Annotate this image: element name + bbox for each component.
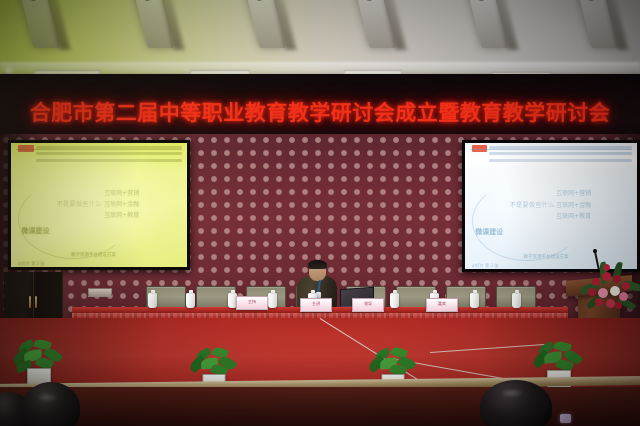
water-bottle — [512, 293, 521, 308]
podium-flower-arrangement — [578, 258, 640, 318]
potted-plant — [10, 340, 68, 388]
hair-highlight — [36, 392, 58, 403]
slide-content-left: 不是要做些什么 互联网+营销 互联网+金融 互联网+教育 微课建设 教学资源平台… — [11, 143, 187, 267]
name-card-label: 主讲 — [301, 301, 331, 307]
slide-lower-text: 微课建设 — [475, 227, 503, 237]
slide-lower-text: 微课建设 — [22, 226, 50, 236]
slide-bullet-3: 互联网+教育 — [104, 210, 139, 219]
audience-head — [22, 382, 80, 426]
name-card-label: 主持 — [237, 299, 267, 305]
slide-ribbon — [11, 143, 187, 170]
name-card-label: 嘉宾 — [427, 301, 457, 307]
audience-head — [480, 380, 552, 426]
speaker-hair — [308, 260, 327, 269]
event-banner-title: 合肥市第二届中等职业教育教学研讨会成立暨教育教学研讨会 — [0, 94, 640, 130]
ceiling — [0, 0, 640, 78]
projection-screen-right: 不是要做些什么 互联网+营销 互联网+金融 互联网+教育 微课建设 教学资源平台… — [462, 140, 640, 272]
projection-screen-left: 不是要做些什么 互联网+营销 互联网+金融 互联网+教育 微课建设 教学资源平台… — [8, 140, 190, 270]
conference-hall-photo: 合肥市第二届中等职业教育教学研讨会成立暨教育教学研讨会 不是要做些什么 互联网+… — [0, 0, 640, 426]
water-bottle — [268, 293, 277, 308]
slide-status-text: 幻灯片 第 3 张 — [18, 261, 44, 267]
water-bottle — [148, 293, 157, 308]
name-card: 主持 — [236, 296, 268, 310]
slide-center-text: 不是要做些什么 — [510, 200, 555, 209]
audience-phone[interactable] — [560, 414, 571, 423]
wall-sign-plate — [88, 288, 112, 297]
slide-bullet-3: 互联网+教育 — [556, 211, 591, 220]
microphone-icon — [593, 249, 597, 253]
water-bottle — [186, 293, 195, 308]
slide-content-right: 不是要做些什么 互联网+营销 互联网+金融 互联网+教育 微课建设 教学资源平台… — [465, 143, 637, 269]
name-card: 主讲 — [300, 298, 332, 312]
slide-center-text: 不是要做些什么 — [57, 199, 102, 208]
name-card-label: 领导 — [353, 301, 383, 307]
water-bottle — [470, 293, 479, 308]
slide-footer-text: 教学资源平台建设方案 — [71, 252, 116, 258]
slide-footer-text: 教学资源平台建设方案 — [523, 254, 568, 260]
name-card: 嘉宾 — [426, 298, 458, 312]
name-card: 领导 — [352, 298, 384, 312]
hair-highlight — [500, 388, 524, 398]
slide-bullet-2: 互联网+金融 — [556, 200, 591, 209]
slide-bullet-1: 互联网+营销 — [556, 188, 591, 197]
water-bottle — [390, 293, 399, 308]
slide-bullet-1: 互联网+营销 — [104, 188, 139, 197]
slide-bullet-2: 互联网+金融 — [104, 199, 139, 208]
slide-ribbon — [465, 143, 637, 171]
slide-status-text: 幻灯片 第 3 张 — [472, 263, 498, 269]
